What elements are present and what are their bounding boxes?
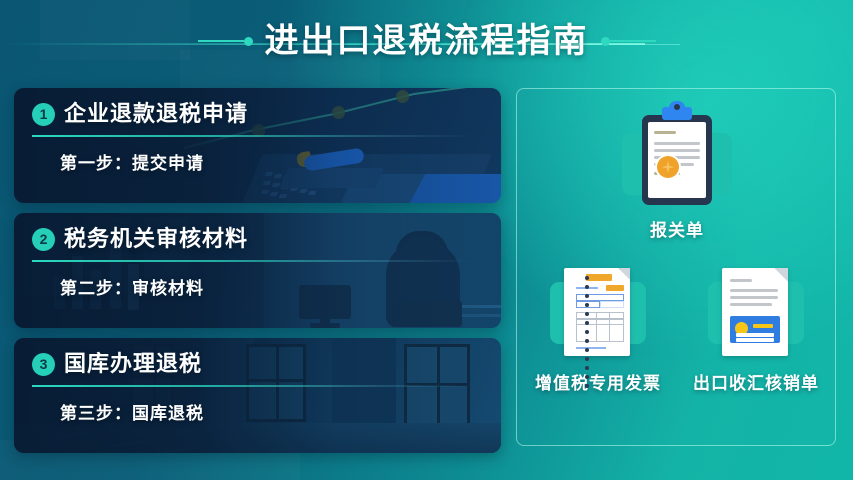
certificate-icon xyxy=(704,264,808,360)
slide-root: 进出口退税流程指南 xyxy=(0,0,853,480)
page-title: 进出口退税流程指南 xyxy=(265,24,589,58)
perforation-strip xyxy=(585,276,590,393)
page-fold xyxy=(618,268,630,280)
title-row: 进出口退税流程指南 xyxy=(0,14,853,68)
deco-line xyxy=(610,40,656,42)
step-number-badge: 2 xyxy=(32,228,55,251)
paper-line xyxy=(654,131,676,134)
invoice-col xyxy=(596,312,610,342)
step-card-3[interactable]: 3 国库办理退税 第三步：国库退税 xyxy=(14,338,501,453)
paper-line xyxy=(730,303,772,306)
step-card-2[interactable]: 2 税务机关审核材料 第二步：审核材料 xyxy=(14,213,501,328)
card-bar xyxy=(736,333,774,337)
paper-line xyxy=(730,289,778,292)
deco-dot xyxy=(244,37,253,46)
step-3-header: 3 国库办理退税 xyxy=(32,352,491,376)
step-title: 税务机关审核材料 xyxy=(64,227,248,251)
step-subtitle: 第一步：提交申请 xyxy=(60,149,491,174)
step-2-content: 2 税务机关审核材料 第二步：审核材料 xyxy=(32,227,491,299)
paper-line xyxy=(654,149,700,152)
paper-line xyxy=(730,296,778,299)
document-label: 出口收汇核销单 xyxy=(693,369,819,394)
paper-line xyxy=(654,142,700,145)
documents-list: 增值税专用发票 xyxy=(517,264,837,394)
step-1-content: 1 企业退款退税申请 第一步：提交申请 xyxy=(32,102,491,174)
clipboard-icon xyxy=(617,99,737,207)
primary-document[interactable]: 报关单 xyxy=(517,99,837,241)
step-title: 企业退款退税申请 xyxy=(64,102,248,126)
invoice-cell xyxy=(576,294,624,301)
step-number-badge: 3 xyxy=(32,353,55,376)
clip-hole xyxy=(674,104,680,110)
certificate-page xyxy=(722,268,788,356)
invoice-cell xyxy=(600,301,624,308)
document-item-certificate[interactable]: 出口收汇核销单 xyxy=(691,264,821,394)
deco-dot xyxy=(601,37,610,46)
document-label: 增值税专用发票 xyxy=(535,369,661,394)
step-divider xyxy=(32,135,472,137)
primary-document-label: 报关单 xyxy=(650,216,704,241)
seal-icon xyxy=(657,156,679,178)
page-fold xyxy=(774,268,788,282)
step-card-1[interactable]: 1 企业退款退税申请 第一步：提交申请 xyxy=(14,88,501,203)
step-title: 国库办理退税 xyxy=(64,352,202,376)
step-number-badge: 1 xyxy=(32,103,55,126)
document-item-invoice[interactable]: 增值税专用发票 xyxy=(533,264,663,394)
paper-line xyxy=(730,279,752,282)
step-divider xyxy=(32,260,472,262)
id-card-graphic xyxy=(730,316,780,343)
step-3-content: 3 国库办理退税 第三步：国库退税 xyxy=(32,352,491,424)
card-bar xyxy=(753,324,773,328)
invoice-page xyxy=(564,268,630,356)
step-subtitle: 第二步：审核材料 xyxy=(60,274,491,299)
steps-list: 1 企业退款退税申请 第一步：提交申请 xyxy=(14,88,501,463)
step-2-header: 2 税务机关审核材料 xyxy=(32,227,491,251)
step-divider xyxy=(32,385,472,387)
invoice-header-bar xyxy=(606,285,624,291)
deco-line xyxy=(198,40,244,42)
invoice-line xyxy=(576,347,606,349)
documents-panel: 报关单 xyxy=(516,88,836,446)
title-decoration-left xyxy=(198,37,253,46)
step-1-header: 1 企业退款退税申请 xyxy=(32,102,491,126)
invoice-icon xyxy=(546,264,650,360)
step-subtitle: 第三步：国库退税 xyxy=(60,399,491,424)
title-decoration-right xyxy=(601,37,656,46)
card-bar xyxy=(736,338,774,342)
